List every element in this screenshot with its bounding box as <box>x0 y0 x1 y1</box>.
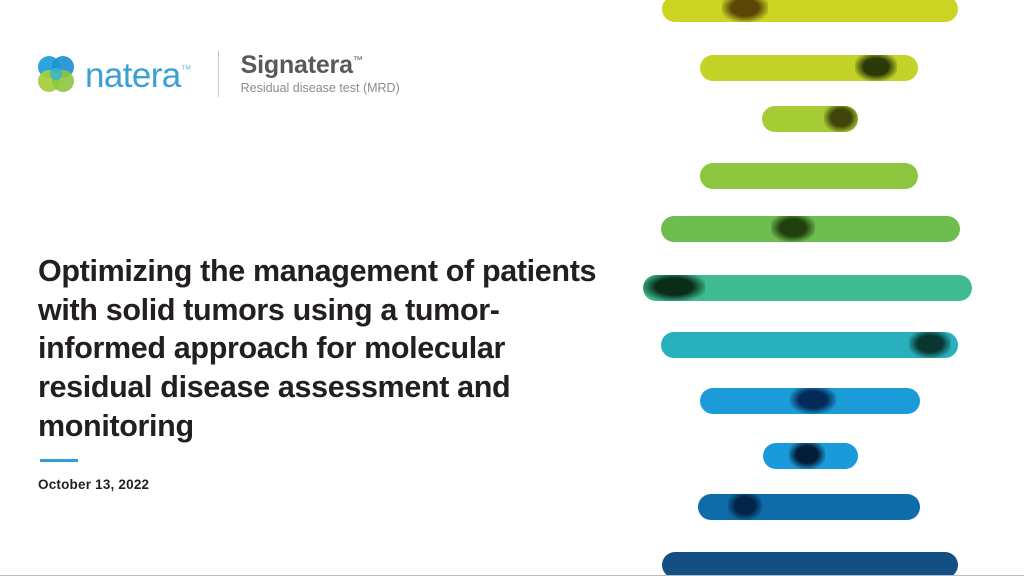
patient-portrait-photo <box>824 106 858 132</box>
pill-bar <box>661 332 958 358</box>
natera-logo-icon <box>36 54 76 94</box>
pill-bar <box>700 388 920 414</box>
pill-bar <box>763 443 858 469</box>
signatera-name: Signatera™ <box>241 52 400 78</box>
brand-lockup: natera™ Signatera™ Residual disease test… <box>36 47 400 101</box>
natera-wordmark: natera™ <box>85 58 192 93</box>
patient-portrait-photo <box>909 332 951 358</box>
accent-rule <box>40 459 78 462</box>
pill-bar <box>661 216 960 242</box>
signatera-trademark-symbol: ™ <box>353 55 363 66</box>
natera-wordmark-text: natera <box>85 56 181 95</box>
patient-portrait-photo <box>771 216 815 242</box>
patient-portrait-photo <box>722 0 768 22</box>
natera-trademark-symbol: ™ <box>181 64 192 76</box>
logo-circle-center <box>50 68 62 80</box>
pill-bar <box>700 163 918 189</box>
patient-portrait-photo <box>643 275 705 301</box>
pill-bar <box>662 0 958 22</box>
pill-bar <box>762 106 858 132</box>
page-title: Optimizing the management of patients wi… <box>38 252 598 446</box>
pill-bar <box>643 275 972 301</box>
slide-date: October 13, 2022 <box>38 477 149 492</box>
patient-portrait-photo <box>789 443 825 469</box>
pill-bar <box>698 494 920 520</box>
signatera-name-text: Signatera <box>241 51 353 79</box>
title-slide: natera™ Signatera™ Residual disease test… <box>0 0 1024 576</box>
pill-bar <box>700 55 918 81</box>
signatera-brand-block: Signatera™ Residual disease test (MRD) <box>241 52 400 96</box>
patient-portrait-photo <box>855 55 897 81</box>
pill-bar <box>662 552 958 576</box>
lockup-divider <box>218 51 219 97</box>
title-block: Optimizing the management of patients wi… <box>38 252 598 446</box>
patient-portrait-photo <box>790 388 836 414</box>
signatera-tagline: Residual disease test (MRD) <box>241 81 400 96</box>
patient-portrait-photo <box>728 494 762 520</box>
